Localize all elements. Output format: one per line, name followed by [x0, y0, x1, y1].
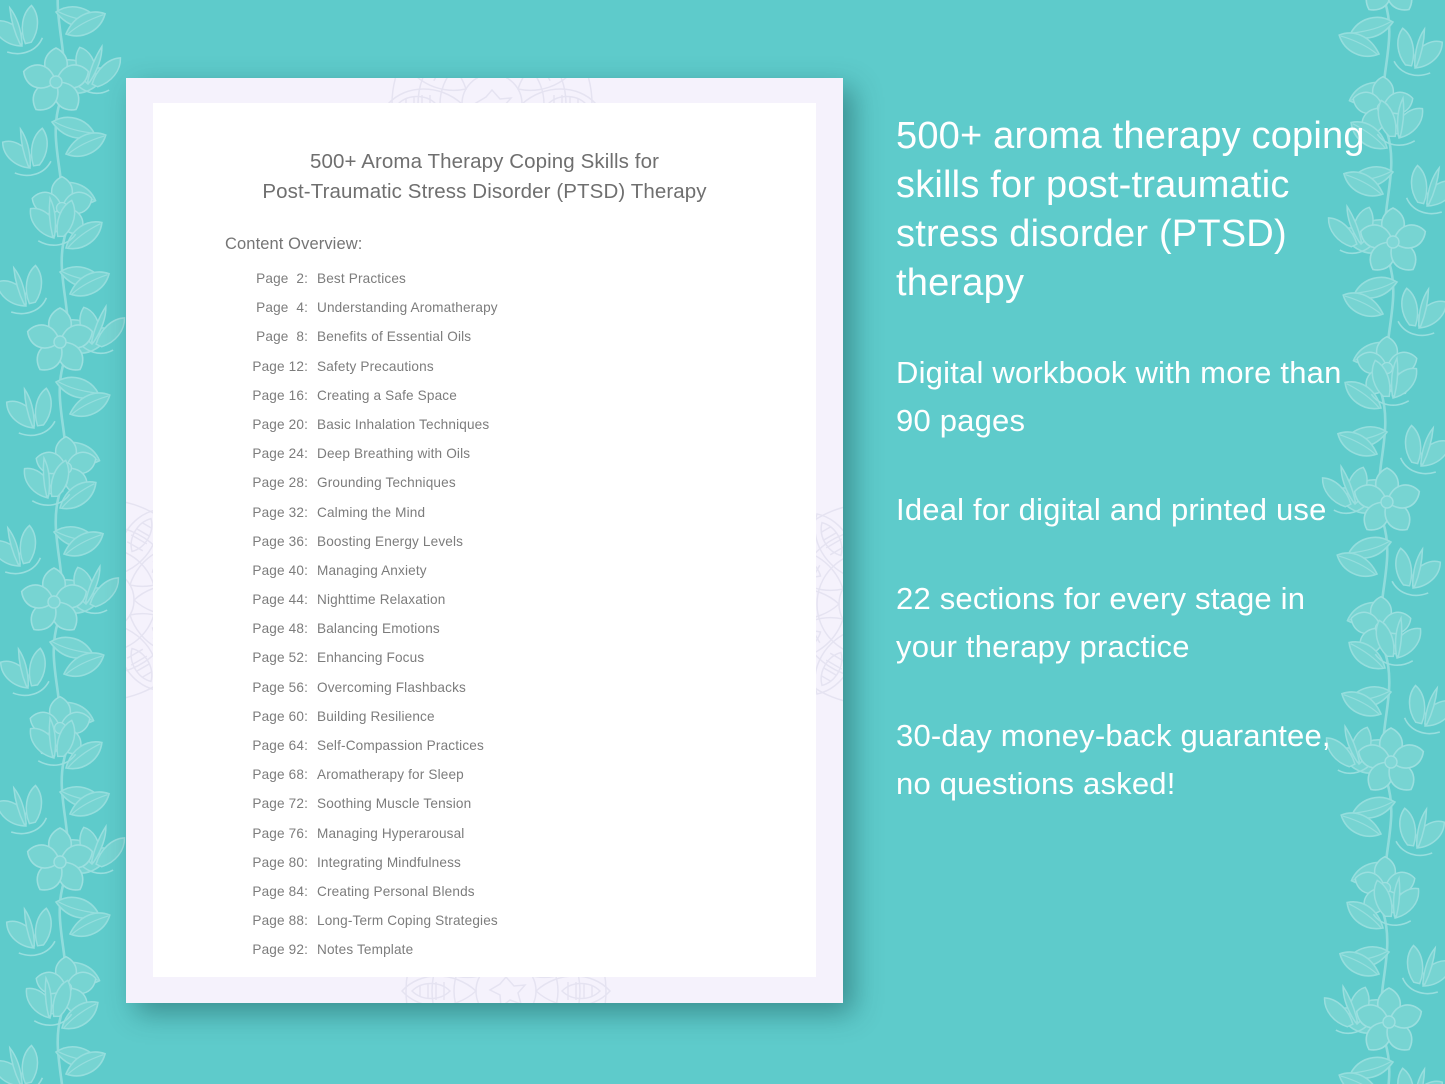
toc-section-title: Boosting Energy Levels	[317, 534, 816, 549]
product-card: 500+ Aroma Therapy Coping Skills for Pos…	[126, 78, 843, 1003]
toc-page-number: Page 12:	[248, 359, 308, 374]
toc-page-number: Page 72:	[248, 796, 308, 811]
toc-page-number: Page 4:	[248, 300, 308, 315]
toc-row: Page 12:Safety Precautions	[248, 359, 816, 388]
toc-section-title: Best Practices	[317, 271, 816, 286]
toc-page-number: Page 44:	[248, 592, 308, 607]
toc-row: Page 20:Basic Inhalation Techniques	[248, 417, 816, 446]
toc-row: Page 32:Calming the Mind	[248, 505, 816, 534]
toc-row: Page 88:Long-Term Coping Strategies	[248, 913, 816, 942]
toc-row: Page 56:Overcoming Flashbacks	[248, 680, 816, 709]
pitch-bullet-sections: 22 sections for every stage in your ther…	[896, 575, 1366, 671]
toc-page-number: Page 24:	[248, 446, 308, 461]
toc-page-number: Page 56:	[248, 680, 308, 695]
pitch-headline: 500+ aroma therapy coping skills for pos…	[896, 112, 1366, 308]
toc-page-number: Page 2:	[248, 271, 308, 286]
toc-row: Page 72:Soothing Muscle Tension	[248, 796, 816, 825]
toc-section-title: Soothing Muscle Tension	[317, 796, 816, 811]
toc-row: Page 8:Benefits of Essential Oils	[248, 329, 816, 358]
toc-page-number: Page 36:	[248, 534, 308, 549]
toc-row: Page 40:Managing Anxiety	[248, 563, 816, 592]
toc-section-title: Enhancing Focus	[317, 650, 816, 665]
toc-page-number: Page 76:	[248, 826, 308, 841]
toc-section-title: Basic Inhalation Techniques	[317, 417, 816, 432]
toc-row: Page 92:Notes Template	[248, 942, 816, 971]
pitch-bullet-usage: Ideal for digital and printed use	[896, 486, 1366, 534]
toc-section-title: Deep Breathing with Oils	[317, 446, 816, 461]
content-overview-label: Content Overview:	[153, 207, 816, 254]
toc-row: Page 76:Managing Hyperarousal	[248, 826, 816, 855]
toc-page-number: Page 8:	[248, 329, 308, 344]
toc-row: Page 2:Best Practices	[248, 271, 816, 300]
toc-section-title: Integrating Mindfulness	[317, 855, 816, 870]
table-of-contents: Page 2:Best PracticesPage 4:Understandin…	[153, 254, 816, 972]
pitch-bullet-guarantee: 30-day money-back guarantee, no question…	[896, 712, 1366, 808]
toc-row: Page 84:Creating Personal Blends	[248, 884, 816, 913]
toc-row: Page 4:Understanding Aromatherapy	[248, 300, 816, 329]
toc-section-title: Building Resilience	[317, 709, 816, 724]
toc-section-title: Creating Personal Blends	[317, 884, 816, 899]
toc-page-number: Page 20:	[248, 417, 308, 432]
toc-row: Page 80:Integrating Mindfulness	[248, 855, 816, 884]
toc-page-number: Page 92:	[248, 942, 308, 957]
toc-section-title: Managing Hyperarousal	[317, 826, 816, 841]
toc-section-title: Self-Compassion Practices	[317, 738, 816, 753]
toc-page-number: Page 28:	[248, 475, 308, 490]
document-sheet: 500+ Aroma Therapy Coping Skills for Pos…	[153, 103, 816, 977]
toc-page-number: Page 40:	[248, 563, 308, 578]
floral-vine-pattern-left	[0, 0, 126, 1084]
toc-section-title: Managing Anxiety	[317, 563, 816, 578]
toc-row: Page 24:Deep Breathing with Oils	[248, 446, 816, 475]
marketing-copy: 500+ aroma therapy coping skills for pos…	[896, 112, 1366, 808]
toc-section-title: Long-Term Coping Strategies	[317, 913, 816, 928]
document-title-line-2: Post-Traumatic Stress Disorder (PTSD) Th…	[197, 177, 772, 207]
toc-section-title: Calming the Mind	[317, 505, 816, 520]
toc-section-title: Nighttime Relaxation	[317, 592, 816, 607]
toc-row: Page 52:Enhancing Focus	[248, 650, 816, 679]
toc-section-title: Understanding Aromatherapy	[317, 300, 816, 315]
toc-page-number: Page 64:	[248, 738, 308, 753]
toc-page-number: Page 80:	[248, 855, 308, 870]
toc-section-title: Notes Template	[317, 942, 816, 957]
toc-row: Page 48:Balancing Emotions	[248, 621, 816, 650]
document-title: 500+ Aroma Therapy Coping Skills for Pos…	[153, 103, 816, 207]
toc-row: Page 28:Grounding Techniques	[248, 475, 816, 504]
toc-page-number: Page 68:	[248, 767, 308, 782]
toc-section-title: Balancing Emotions	[317, 621, 816, 636]
toc-page-number: Page 84:	[248, 884, 308, 899]
pitch-bullet-pages: Digital workbook with more than 90 pages	[896, 349, 1366, 445]
toc-section-title: Overcoming Flashbacks	[317, 680, 816, 695]
toc-row: Page 44:Nighttime Relaxation	[248, 592, 816, 621]
toc-page-number: Page 88:	[248, 913, 308, 928]
toc-page-number: Page 16:	[248, 388, 308, 403]
toc-section-title: Safety Precautions	[317, 359, 816, 374]
toc-row: Page 64:Self-Compassion Practices	[248, 738, 816, 767]
toc-page-number: Page 48:	[248, 621, 308, 636]
toc-row: Page 60:Building Resilience	[248, 709, 816, 738]
toc-row: Page 36:Boosting Energy Levels	[248, 534, 816, 563]
toc-page-number: Page 52:	[248, 650, 308, 665]
toc-page-number: Page 32:	[248, 505, 308, 520]
toc-row: Page 68:Aromatherapy for Sleep	[248, 767, 816, 796]
toc-row: Page 16:Creating a Safe Space	[248, 388, 816, 417]
promo-graphic: 500+ Aroma Therapy Coping Skills for Pos…	[0, 0, 1445, 1084]
toc-section-title: Grounding Techniques	[317, 475, 816, 490]
toc-section-title: Aromatherapy for Sleep	[317, 767, 816, 782]
document-title-line-1: 500+ Aroma Therapy Coping Skills for	[197, 147, 772, 177]
toc-page-number: Page 60:	[248, 709, 308, 724]
toc-section-title: Creating a Safe Space	[317, 388, 816, 403]
toc-section-title: Benefits of Essential Oils	[317, 329, 816, 344]
